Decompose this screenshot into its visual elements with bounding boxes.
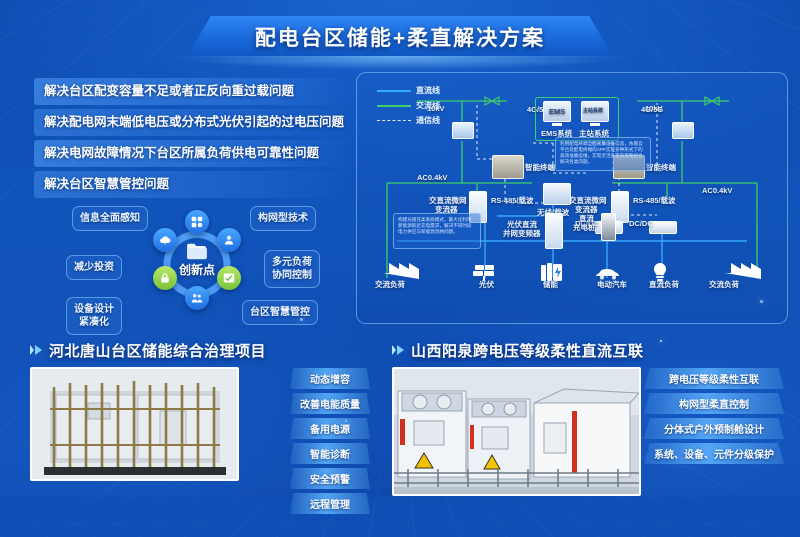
project-tag-list: 跨电压等级柔性互联 构网型柔直控制 分体式户外预制舱设计 系统、设备、元件分级保… xyxy=(644,368,784,468)
dcdc-converter-right xyxy=(649,221,677,234)
dc-charger-device xyxy=(601,213,616,241)
innovation-chip-info-sensing: 信息全面感知 xyxy=(72,206,148,231)
problem-list: 解决台区配变容量不足或者正反向重过载问题 解决配电网末端低电压或分布式光伏引起的… xyxy=(34,78,354,202)
monitor-stand xyxy=(552,123,562,126)
chip-line-2: 协同控制 xyxy=(272,270,312,281)
rs485-label-right: RS-485/载波 xyxy=(633,195,676,206)
project-tag-list: 动态增容 改善电能质量 备用电源 智能诊断 安全预警 远程管理 xyxy=(290,368,370,518)
chip-line-1: 多元负荷 xyxy=(272,257,312,268)
rs485-label-left: RS-485/载波 xyxy=(491,195,534,206)
dcdc-label-right: DC/DC xyxy=(629,219,653,228)
innovation-core-label: 创新点 xyxy=(166,261,228,278)
grid-icon xyxy=(185,210,209,234)
project-header: 河北唐山台区储能综合治理项目 xyxy=(30,340,370,361)
chip-line-1: 设备设计 xyxy=(74,304,114,315)
innovation-chip-smart-control: 台区智慧管控 xyxy=(242,300,318,325)
innovation-chip-compact-design: 设备设计 紧凑化 xyxy=(66,297,122,335)
project-tag: 构网型柔直控制 xyxy=(644,393,784,414)
callout-bottom: 构建光储充柔系统模式，最大化利用新能源就近充电需求，解决不同时段电力供应与新能源… xyxy=(393,213,481,249)
load-label-ev: 电动汽车 xyxy=(597,279,627,290)
innovation-chip-reduce-investment: 减少投资 xyxy=(66,255,122,280)
innovation-ring: 创新点 xyxy=(148,214,246,326)
list-item: 解决电网故障情况下台区所属负荷供电可靠性问题 xyxy=(34,140,354,167)
folder-icon xyxy=(186,242,208,260)
transformer-left xyxy=(452,122,474,139)
innovation-wheel: 信息全面感知 减少投资 设备设计 紧凑化 构网型技术 多元负荷 协同控制 台区智… xyxy=(60,200,320,342)
pv-grid-inverter xyxy=(545,213,563,249)
project-title: 河北唐山台区储能综合治理项目 xyxy=(49,340,266,361)
smart-terminal-left-device xyxy=(492,155,524,179)
project-tag: 分体式户外预制舱设计 xyxy=(644,418,784,439)
voltage-label-ac04-right: AC0.4kV xyxy=(702,186,732,195)
load-label-pv: 光伏 xyxy=(479,279,494,290)
innovation-core: 创新点 xyxy=(166,242,228,294)
ems-screen-text: EMS xyxy=(549,107,565,116)
innovation-chip-multi-load: 多元负荷 协同控制 xyxy=(264,250,320,288)
project-tag: 智能诊断 xyxy=(290,443,370,464)
project-photo xyxy=(392,367,641,496)
pv-inverter-label-2: 并网变频器 xyxy=(503,228,541,239)
schematic-inner: 直流线 交流线 通信线 xyxy=(357,73,787,323)
project-tag: 系统、设备、元件分级保护 xyxy=(644,443,784,464)
project-title: 山西阳泉跨电压等级柔性直流互联 xyxy=(411,340,644,361)
monitor-stand xyxy=(590,123,600,126)
title-glow xyxy=(165,56,635,70)
transformer-right xyxy=(672,122,694,139)
project-header: 山西阳泉跨电压等级柔性直流互联 xyxy=(392,340,784,361)
project-tag: 改善电能质量 xyxy=(290,393,370,414)
voltage-label-ac04-left: AC0.4kV xyxy=(417,173,447,182)
project-tag: 动态增容 xyxy=(290,368,370,389)
load-label-storage: 储能 xyxy=(543,279,558,290)
photo-content xyxy=(394,369,639,494)
load-label-dc: 直流负荷 xyxy=(649,279,679,290)
smart-terminal-left-label: 智能终端 xyxy=(525,162,555,173)
charger-label-2: 充电桩 xyxy=(573,222,596,233)
comm-label-4g5g-right: 4G/5G xyxy=(641,105,663,114)
voltage-label-10kv-left: 10kV xyxy=(427,104,445,113)
project-card-hebei: 河北唐山台区储能综合治理项目 动态增容 改善电能质量 备用电源 智能诊断 安全预… xyxy=(30,340,370,481)
double-arrow-icon xyxy=(30,342,43,360)
header: 配电台区储能+柔直解决方案 xyxy=(0,12,800,62)
list-item: 解决台区配变容量不足或者正反向重过载问题 xyxy=(34,78,354,105)
project-card-shanxi: 山西阳泉跨电压等级柔性直流互联 xyxy=(392,340,784,496)
innovation-chip-grid-forming: 构网型技术 xyxy=(250,206,316,231)
double-arrow-icon xyxy=(392,342,405,360)
callout-top: 利用配电终端全面采集设备信息，依靠云平台及配电终端的APP实现多种形式下的高效准… xyxy=(555,137,651,171)
list-item: 解决台区智慧管控问题 xyxy=(34,171,354,198)
load-label-ac-left: 交流负荷 xyxy=(375,279,405,290)
load-label-ac-right: 交流负荷 xyxy=(709,279,739,290)
page-title: 配电台区储能+柔直解决方案 xyxy=(255,22,545,52)
project-tag: 远程管理 xyxy=(290,493,370,514)
photo-content xyxy=(32,369,237,479)
project-tag: 跨电压等级柔性互联 xyxy=(644,368,784,389)
project-tag: 安全预警 xyxy=(290,468,370,489)
list-item: 解决配电网末端低电压或分布式光伏引起的过电压问题 xyxy=(34,109,354,136)
project-tag: 备用电源 xyxy=(290,418,370,439)
master-screen-text: 主站系统 xyxy=(583,107,603,114)
wireless-module xyxy=(543,183,571,205)
chip-line-2: 紧凑化 xyxy=(79,317,109,328)
system-schematic-panel: 直流线 交流线 通信线 xyxy=(356,72,788,324)
project-photo xyxy=(30,367,239,481)
